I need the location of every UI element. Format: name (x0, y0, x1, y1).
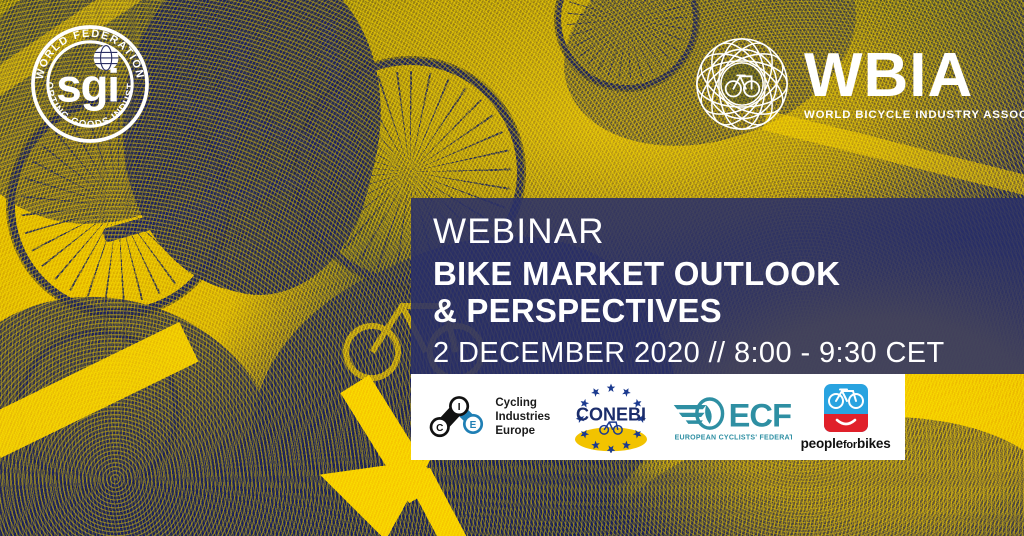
title-line-1: BIKE MARKET OUTLOOK (433, 255, 840, 292)
ecf-winged-wheel-icon: ECF EUROPEAN CYCLISTS' FEDERATION (672, 389, 792, 445)
date-time-line: 2 DECEMBER 2020 // 8:00 - 9:30 CET (433, 337, 1024, 370)
wbia-logo: WBIA WORLD BICYCLE INDUSTRY ASSOCIATION (694, 36, 1024, 132)
pfb-word-for: for (843, 439, 857, 451)
cie-word-line-2: Industries (495, 410, 550, 424)
cie-wordmark: Cycling Industries Europe (495, 396, 550, 438)
ecf-subtitle: EUROPEAN CYCLISTS' FEDERATION (674, 434, 791, 441)
partner-logo-conebi: CONEBI (559, 381, 663, 453)
partner-logo-ecf: ECF EUROPEAN CYCLISTS' FEDERATION (672, 389, 792, 445)
webinar-promo-banner: WORLD FEDERATION SPORTING GOODS INDUSTRY… (0, 0, 1024, 536)
cie-word-line-3: Europe (495, 424, 550, 438)
cie-word-line-1: Cycling (495, 396, 550, 410)
cie-letter-i: I (458, 402, 461, 413)
cie-letter-c: C (436, 423, 443, 434)
wfsgi-logo: WORLD FEDERATION SPORTING GOODS INDUSTRY… (28, 22, 152, 146)
title-line-2: & PERSPECTIVES (433, 293, 1024, 330)
pfb-word-people: people (801, 436, 843, 451)
wbia-subtitle: WORLD BICYCLE INDUSTRY ASSOCIATION (804, 109, 1024, 121)
bicycle-in-mandala-icon (694, 36, 790, 132)
pfb-wordmark: peopleforbikes (801, 436, 891, 451)
pfb-bicycle-badge-icon (823, 383, 869, 433)
ecf-wordmark: ECF (728, 397, 791, 433)
eyebrow-label: WEBINAR (433, 214, 1024, 250)
conebi-stars-bicycle-icon: CONEBI (559, 381, 663, 453)
wfsgi-wordmark: sgi (56, 59, 119, 111)
partner-logo-peopleforbikes: peopleforbikes (801, 383, 891, 451)
wbia-wordmark: WBIA (804, 47, 1024, 104)
pfb-word-bikes: bikes (857, 436, 891, 451)
webinar-text-panel: WEBINAR BIKE MARKET OUTLOOK & PERSPECTIV… (411, 198, 1024, 374)
cie-circles-icon: C I E (425, 393, 487, 441)
partner-logo-cycling-industries-europe: C I E Cycling Industries Europe (425, 393, 550, 441)
cie-letter-e: E (470, 420, 477, 431)
partner-logo-bar: C I E Cycling Industries Europe (411, 374, 905, 460)
page-title: BIKE MARKET OUTLOOK & PERSPECTIVES (433, 256, 1024, 330)
wbia-text-block: WBIA WORLD BICYCLE INDUSTRY ASSOCIATION (804, 47, 1024, 121)
